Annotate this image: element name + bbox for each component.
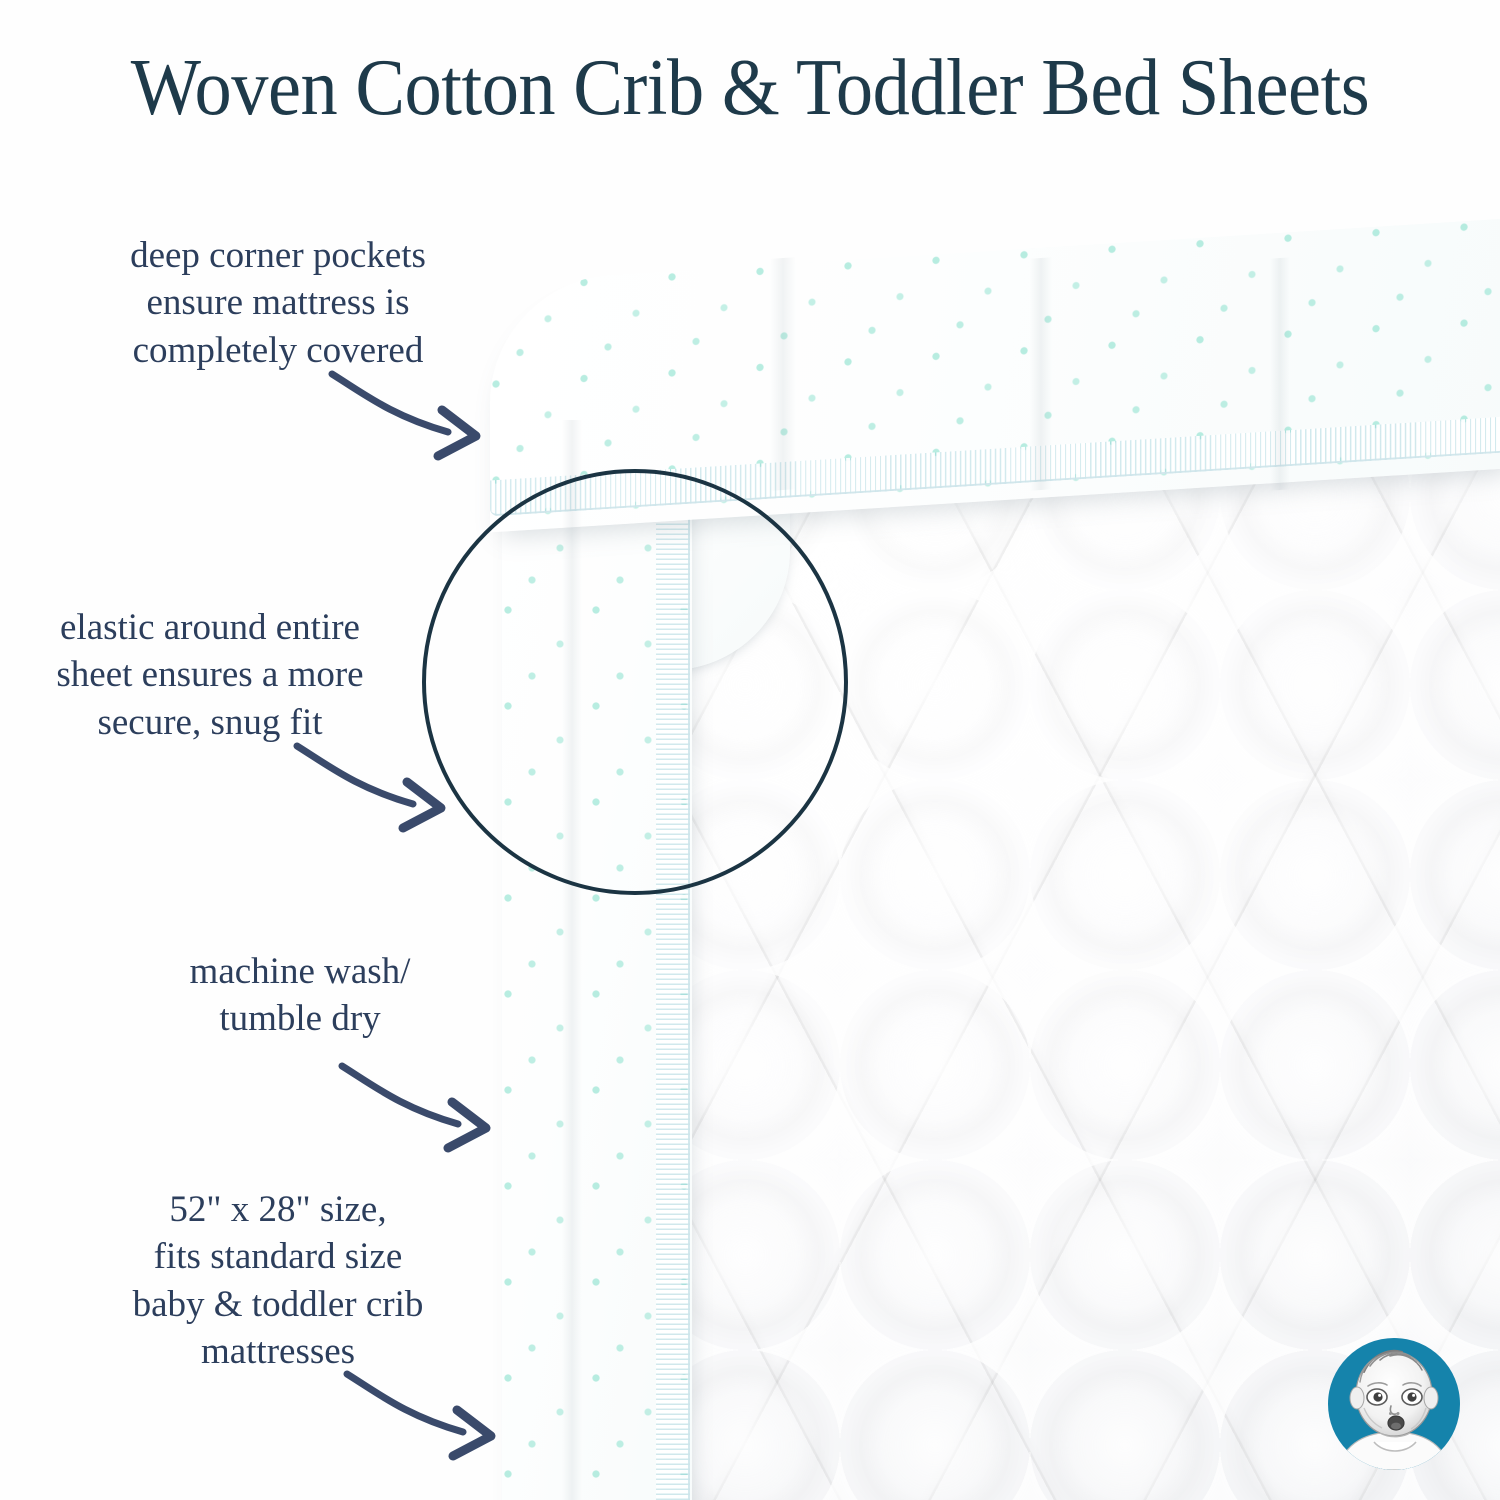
infographic-canvas: Woven Cotton Crib & Toddler Bed Sheets d…	[0, 0, 1500, 1500]
callout-line: baby & toddler crib	[78, 1281, 478, 1328]
callout-size-and-fit: 52" x 28" size, fits standard size baby …	[78, 1186, 478, 1375]
callout-elastic-all-around: elastic around entire sheet ensures a mo…	[0, 604, 420, 746]
callout-line: 52" x 28" size,	[78, 1186, 478, 1233]
callout-line: completely covered	[58, 327, 498, 374]
baby-sketch-icon	[1328, 1338, 1460, 1470]
page-title: Woven Cotton Crib & Toddler Bed Sheets	[53, 42, 1448, 134]
callout-line: sheet ensures a more	[0, 651, 420, 698]
product-photo	[470, 180, 1500, 1500]
gerber-baby-logo	[1328, 1338, 1460, 1470]
callout-line: ensure mattress is	[58, 279, 498, 326]
callout-deep-corner-pockets: deep corner pockets ensure mattress is c…	[58, 232, 498, 374]
callout-line: elastic around entire	[0, 604, 420, 651]
callout-line: mattresses	[78, 1328, 478, 1375]
callout-line: fits standard size	[78, 1233, 478, 1280]
curved-arrow-icon	[285, 740, 485, 852]
logo-disc	[1328, 1338, 1460, 1470]
callout-line: machine wash/	[110, 948, 490, 995]
callout-line: secure, snug fit	[0, 699, 420, 746]
sheet-left-elastic-hem	[656, 480, 690, 1500]
callout-line: deep corner pockets	[58, 232, 498, 279]
callout-line: tumble dry	[110, 995, 490, 1042]
callout-care-instructions: machine wash/ tumble dry	[110, 948, 490, 1043]
